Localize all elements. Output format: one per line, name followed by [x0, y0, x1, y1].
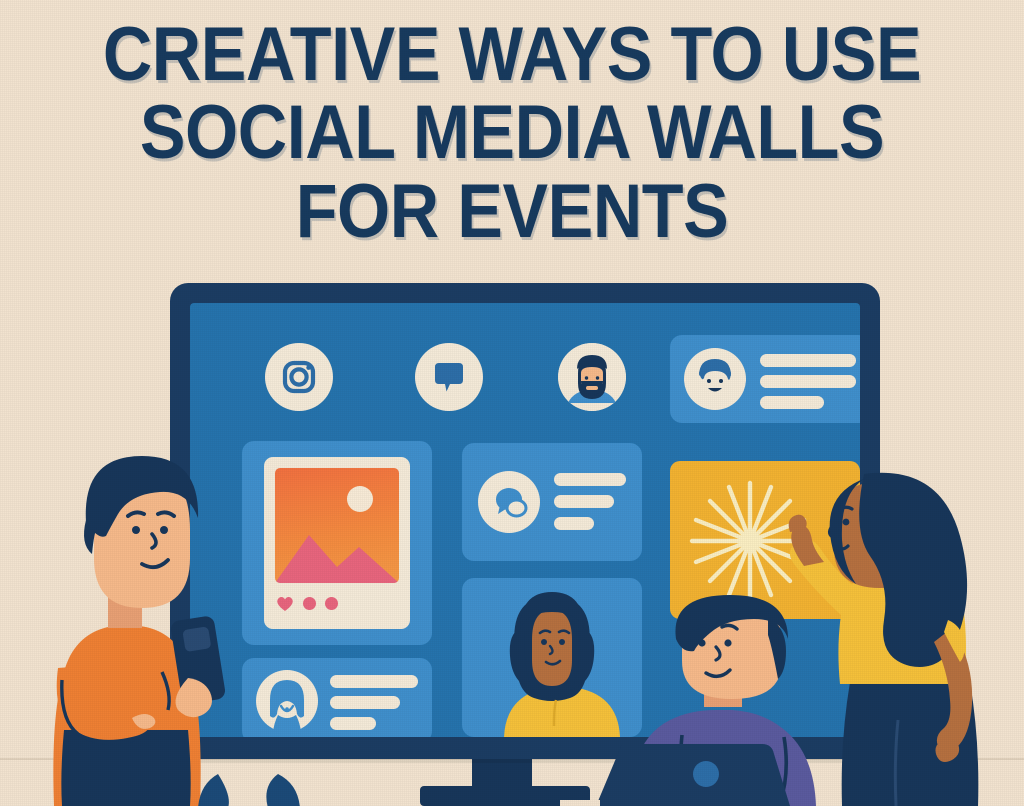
post-text-line — [330, 717, 376, 730]
poster-canvas: CREATIVE WAYS TO USE SOCIAL MEDIA WALLS … — [0, 0, 1024, 806]
heart-icon — [276, 595, 294, 612]
reaction-dot — [325, 597, 338, 610]
portrait-post-card[interactable] — [462, 578, 642, 737]
photo-frame — [264, 457, 410, 629]
reaction-dot — [303, 597, 316, 610]
post-text-line — [760, 396, 824, 409]
person-with-phone — [36, 400, 256, 806]
title-line-3: FOR EVENTS — [51, 175, 973, 249]
post-text-line — [330, 696, 400, 709]
title-line-1: CREATIVE WAYS TO USE — [51, 18, 973, 92]
post-text-line — [760, 354, 856, 367]
avatar-bearded-man-icon[interactable] — [558, 343, 626, 411]
post-text-line — [330, 675, 418, 688]
mountain-shape — [275, 521, 399, 583]
profile-post-card[interactable] — [670, 335, 860, 423]
person-foreground — [150, 762, 480, 806]
comment-post-card[interactable] — [462, 443, 642, 561]
comment-text-line — [554, 517, 594, 530]
comment-text-line — [554, 495, 614, 508]
post-text-line — [760, 375, 856, 388]
avatar-long-hair-woman-icon — [256, 670, 318, 732]
instagram-icon[interactable] — [265, 343, 333, 411]
chat-bubble-avatar-icon — [478, 471, 540, 533]
laptop — [560, 742, 790, 806]
comment-text-line — [554, 473, 626, 486]
chat-bubble-icon[interactable] — [415, 343, 483, 411]
woman-yellow-top-portrait — [462, 578, 642, 737]
sun-shape — [347, 486, 373, 512]
user-post-card[interactable] — [242, 658, 432, 737]
photo-post-card[interactable] — [242, 441, 432, 645]
mountain-sunset-photo — [275, 468, 399, 583]
page-title: CREATIVE WAYS TO USE SOCIAL MEDIA WALLS … — [0, 18, 1024, 249]
title-line-2: SOCIAL MEDIA WALLS — [51, 96, 973, 170]
avatar-short-hair-man-icon — [684, 348, 746, 410]
